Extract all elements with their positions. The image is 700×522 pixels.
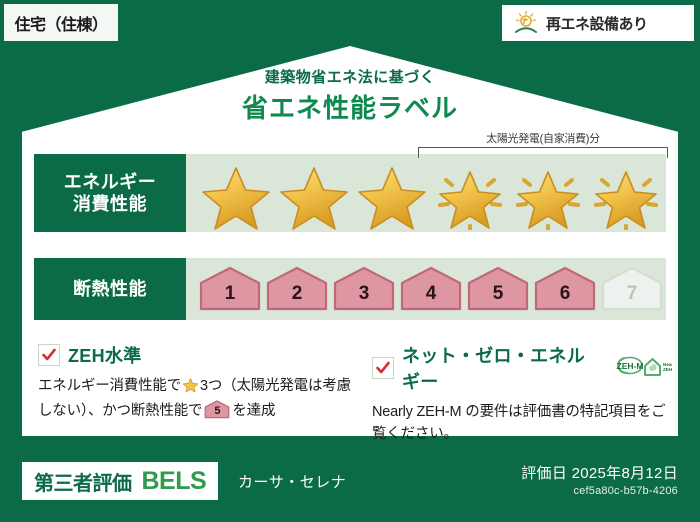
insulation-level-marker: 2 (265, 266, 329, 312)
building-type-tag: 住宅（住棟） (4, 4, 118, 41)
energy-label-line2: 消費性能 (73, 193, 147, 216)
net-zero-energy-block: ネット・ゼロ・エネルギー ZEH-M Nearly ZEH-M Nearly Z… (372, 342, 672, 446)
net-zero-energy-title: ネット・ゼロ・エネルギー (402, 342, 602, 394)
zeh-standard-title: ZEH水準 (68, 342, 142, 368)
zeh-desc-part3: を達成 (232, 403, 275, 419)
insulation-level-marker: 6 (533, 266, 597, 312)
insulation-level-group: 1 2 3 4 5 (186, 266, 664, 312)
insulation-level-inline-badge: 5 (204, 400, 230, 426)
building-type-label: 住宅（住棟） (14, 11, 107, 35)
insulation-level-marker-inactive: 7 (600, 266, 664, 312)
renewable-equipment-badge: 再エネ設備あり (502, 5, 694, 41)
page-title: 省エネ性能ラベル (22, 88, 678, 125)
insulation-level-marker: 5 (466, 266, 530, 312)
star-sparkle-icon (588, 160, 664, 230)
bels-english-label: BELS (142, 467, 207, 496)
insulation-level-number: 6 (533, 266, 597, 312)
solar-annotation-label: 太陽光発電(自家消費)分 (418, 130, 668, 146)
svg-text:ZEH-M: ZEH-M (617, 361, 644, 371)
zeh-desc-part1: エネルギー消費性能で (38, 378, 181, 394)
zeh-m-logo-icon: ZEH-M Nearly ZEH-M (614, 352, 672, 385)
check-icon (372, 357, 394, 379)
insulation-rating-body: 1 2 3 4 5 (186, 258, 666, 320)
bels-japanese-label: 第三者評価 (34, 467, 132, 496)
label-content: 建築物省エネ法に基づく 省エネ性能ラベル エネルギー 消費性能 太陽光発電(自家… (22, 46, 678, 436)
energy-performance-row: エネルギー 消費性能 太陽光発電(自家消費)分 (34, 154, 666, 232)
insulation-level-number: 2 (265, 266, 329, 312)
insulation-level-marker: 3 (332, 266, 396, 312)
star-icon (182, 381, 199, 397)
insulation-level-number: 5 (466, 266, 530, 312)
footer-bar: 第三者評価 BELS カーサ・セレナ 評価日 2025年8月12日 cef5a8… (0, 448, 700, 522)
energy-label-card: 住宅（住棟） 再エネ設備あり 建築物省エネ法に基づく 省エネ性能ラベル (0, 0, 700, 522)
property-name: カーサ・セレナ (238, 471, 346, 492)
renewable-equipment-label: 再エネ設備あり (546, 13, 648, 34)
solar-sun-icon (512, 9, 540, 37)
net-zero-energy-heading: ネット・ゼロ・エネルギー ZEH-M Nearly ZEH-M (372, 342, 672, 394)
insulation-performance-row: 断熱性能 1 2 3 (34, 258, 666, 320)
star-icon (276, 160, 352, 230)
evaluation-id: cef5a80c-b57b-4206 (573, 485, 678, 497)
solar-bracket (418, 147, 668, 158)
zeh-standard-heading: ZEH水準 (38, 342, 354, 368)
insulation-level-marker: 1 (198, 266, 262, 312)
star-sparkle-icon (510, 160, 586, 230)
bels-logo: 第三者評価 BELS (22, 462, 218, 500)
star-icon (198, 160, 274, 230)
title-subtitle: 建築物省エネ法に基づく (22, 66, 678, 87)
insulation-level-marker: 4 (399, 266, 463, 312)
insulation-level-number: 7 (600, 266, 664, 312)
energy-label-line1: エネルギー (64, 171, 157, 194)
zeh-standard-description: エネルギー消費性能で 3つ（太陽光発電は考慮しない）、かつ断熱性能で 5を達成 (38, 375, 354, 427)
svg-text:ZEH-M: ZEH-M (663, 367, 672, 372)
solar-annotation: 太陽光発電(自家消費)分 (418, 130, 668, 158)
insulation-performance-label: 断熱性能 (34, 258, 186, 320)
insulation-level-number: 4 (399, 266, 463, 312)
energy-rating-body: 太陽光発電(自家消費)分 (186, 154, 666, 232)
insulation-level-number: 1 (198, 266, 262, 312)
energy-performance-label: エネルギー 消費性能 (34, 154, 186, 232)
check-icon (38, 344, 60, 366)
zeh-standard-block: ZEH水準 エネルギー消費性能で 3つ（太陽光発電は考慮しない）、かつ断熱性能で… (38, 342, 354, 427)
star-sparkle-icon (432, 160, 508, 230)
star-rating-group (186, 160, 664, 230)
insulation-level-number: 3 (332, 266, 396, 312)
inline-level-number: 5 (204, 400, 230, 419)
insulation-label-text: 断熱性能 (73, 278, 147, 301)
net-zero-energy-description: Nearly ZEH-M の要件は評価書の特記項目をご覧ください。 (372, 401, 672, 446)
evaluation-date: 評価日 2025年8月12日 (521, 462, 678, 483)
star-icon (354, 160, 430, 230)
